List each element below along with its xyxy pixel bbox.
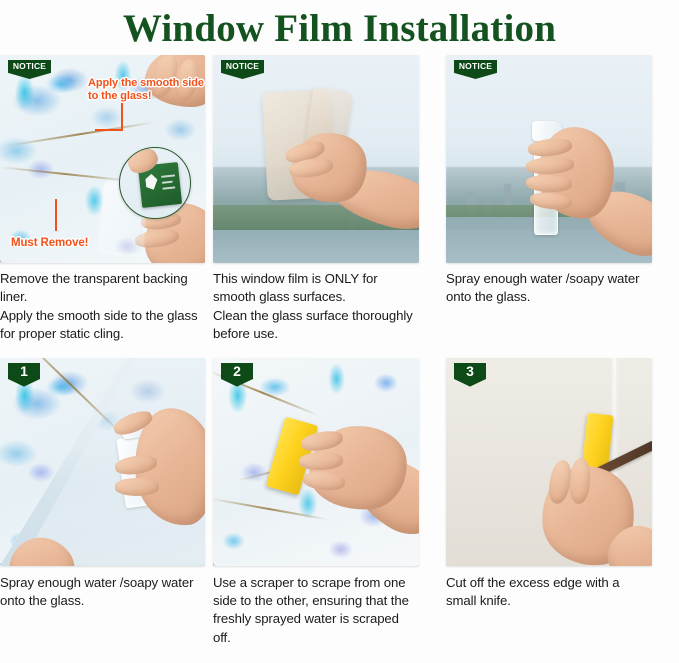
inset-detail-circle <box>119 147 191 219</box>
card-line <box>162 181 173 184</box>
step-caption-2: This window film is ONLY for smooth glas… <box>213 270 419 344</box>
card-line <box>161 174 175 177</box>
step-photo-4: 1 <box>0 358 205 566</box>
step-card-1: Apply the smooth side to the glass! Must… <box>0 55 213 344</box>
step-caption-6: Cut off the excess edge with a small kni… <box>446 574 652 611</box>
step-caption-3: Spray enough water /soapy water onto the… <box>446 270 652 307</box>
steps-row-bottom: 1 Spray enough water /soapy water onto t… <box>0 358 679 648</box>
step-photo-2: NOTICE <box>213 55 419 263</box>
annotation-must-remove: Must Remove! <box>11 237 88 250</box>
step-caption-4: Spray enough water /soapy water onto the… <box>0 574 206 611</box>
leader-line <box>95 129 123 131</box>
step-photo-3: NOTICE <box>446 55 652 263</box>
step-photo-5: 2 <box>213 358 419 566</box>
step-card-2: NOTICE This window film is ONLY for smoo… <box>213 55 446 344</box>
step-caption-1: Remove the transparent backing liner. Ap… <box>0 270 206 344</box>
annotation-apply-smooth: Apply the smooth side to the glass! <box>88 77 205 102</box>
step-card-5: 2 Use a scraper to scrape from one side … <box>213 358 446 648</box>
card-line <box>162 186 175 189</box>
leader-line <box>121 103 123 131</box>
page-title: Window Film Installation <box>0 0 679 55</box>
step-card-4: 1 Spray enough water /soapy water onto t… <box>0 358 213 648</box>
step-card-6: 3 Cut off the excess edge with a small k… <box>446 358 679 648</box>
waterfront <box>213 230 419 263</box>
window-film-installation-infographic: Window Film Installation <box>0 0 679 663</box>
step-photo-1: Apply the smooth side to the glass! Must… <box>0 55 205 263</box>
step-caption-5: Use a scraper to scrape from one side to… <box>213 574 419 648</box>
leader-line <box>55 199 57 231</box>
step-photo-6: 3 <box>446 358 652 566</box>
step-card-3: NOTICE Spray enough water /soapy water o… <box>446 55 679 344</box>
steps-row-top: Apply the smooth side to the glass! Must… <box>0 55 679 344</box>
finger <box>115 478 159 496</box>
